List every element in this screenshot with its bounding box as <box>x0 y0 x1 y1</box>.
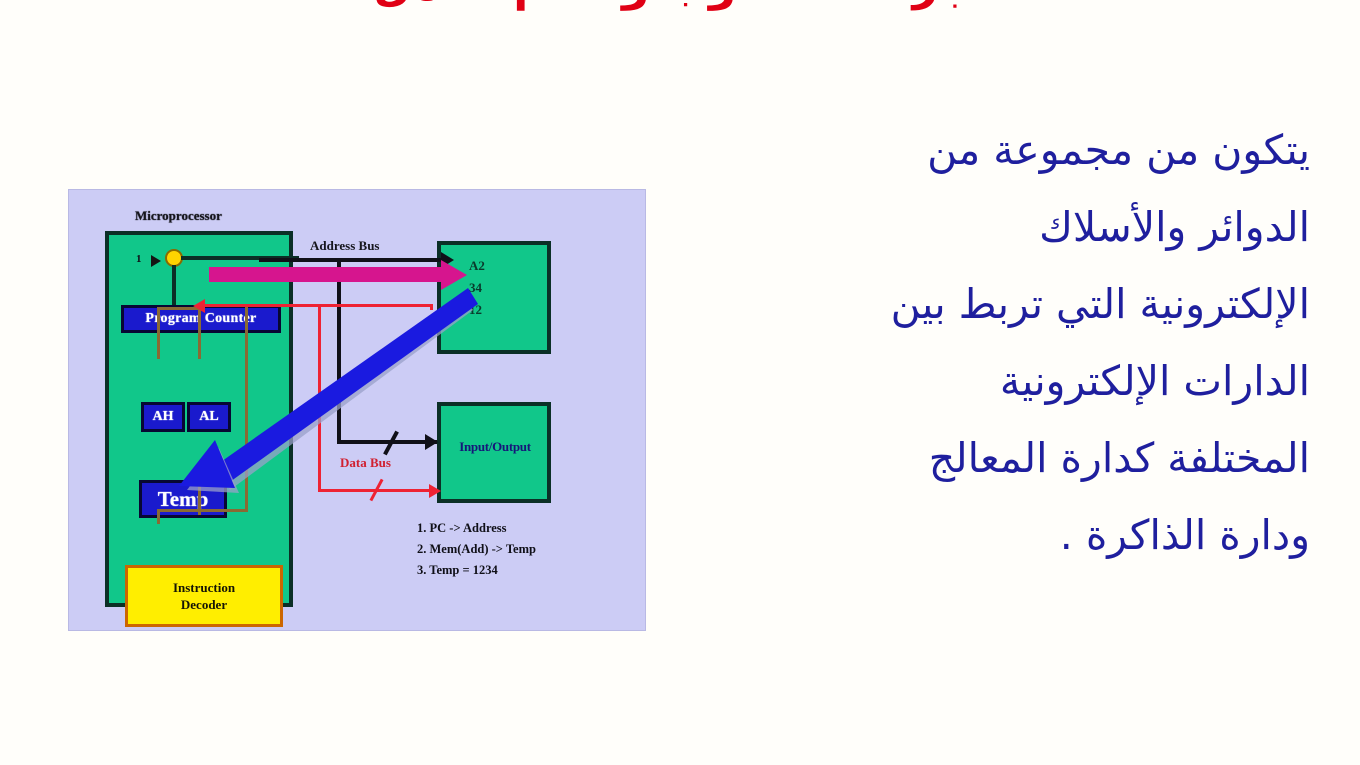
ah-register: AH <box>141 402 185 432</box>
step-item-2: 2. Mem(Add) -> Temp <box>417 539 536 560</box>
memory-value-1: 34 <box>469 277 529 299</box>
microprocessor-label: Microprocessor <box>135 208 222 224</box>
address-bus-io-arrow-icon <box>425 434 438 450</box>
internal-wire-1 <box>157 307 160 359</box>
internal-wire-3 <box>198 307 201 359</box>
decoder-line-2: Decoder <box>181 596 227 613</box>
magenta-transfer-arrow-shaft <box>209 267 449 282</box>
arabic-line-3: الإلكترونية التي تربط بين <box>660 266 1310 343</box>
internal-wire-5 <box>157 509 248 512</box>
node-wire-vertical <box>172 265 176 307</box>
arabic-line-6: ودارة الذاكرة . <box>660 497 1310 574</box>
step-item-1: 1. PC -> Address <box>417 518 536 539</box>
internal-wire-6 <box>198 473 201 515</box>
data-bus-line-stub <box>430 304 433 310</box>
memory-value-2: 12 <box>469 299 529 321</box>
temp-register: Temp <box>139 480 227 518</box>
data-bus-arrow-right-icon <box>429 484 441 498</box>
data-bus-label: Data Bus <box>340 455 391 471</box>
microprocessor-chip-box: 1 Program Counter AH AL Temp Instruction… <box>105 231 293 607</box>
triangle-marker-icon <box>151 255 161 267</box>
microprocessor-diagram: Microprocessor 1 Program Counter AH AL T… <box>68 189 646 631</box>
address-bus-line-top <box>259 258 449 262</box>
decoder-line-1: Instruction <box>173 579 235 596</box>
input-output-label: Input/Output <box>441 439 549 455</box>
arabic-line-4: الدارات الإلكترونية <box>660 343 1310 420</box>
internal-wire-4 <box>245 307 248 512</box>
slide-canvas: أجزاء الحاسوب ونظام العمل Microprocessor… <box>0 0 1360 765</box>
memory-value-0: A2 <box>469 255 529 277</box>
arabic-line-1: يتكون من مجموعة من <box>660 112 1310 189</box>
address-bus-io-vertical <box>337 406 341 444</box>
data-bus-arrow-left-icon <box>193 299 205 313</box>
arabic-body-text: يتكون من مجموعة من الدوائر والأسلاك الإل… <box>660 112 1310 574</box>
internal-wire-7 <box>157 512 160 524</box>
instruction-decoder-box: Instruction Decoder <box>125 565 283 627</box>
slide-title-strip: أجزاء الحاسوب ونظام العمل <box>0 0 1360 24</box>
magenta-transfer-arrow-head-icon <box>441 260 467 290</box>
address-bus-label: Address Bus <box>310 238 379 254</box>
data-bus-line-vertical <box>318 304 321 492</box>
step-list: 1. PC -> Address 2. Mem(Add) -> Temp 3. … <box>417 518 536 581</box>
memory-values: A2 34 12 <box>469 255 529 321</box>
arabic-line-2: الدوائر والأسلاك <box>660 189 1310 266</box>
node-index-label: 1 <box>136 253 142 265</box>
step-item-3: 3. Temp = 1234 <box>417 560 536 581</box>
al-register: AL <box>187 402 231 432</box>
arabic-line-5: المختلفة كدارة المعالج <box>660 420 1310 497</box>
slide-title: أجزاء الحاسوب ونظام العمل <box>0 0 1360 12</box>
